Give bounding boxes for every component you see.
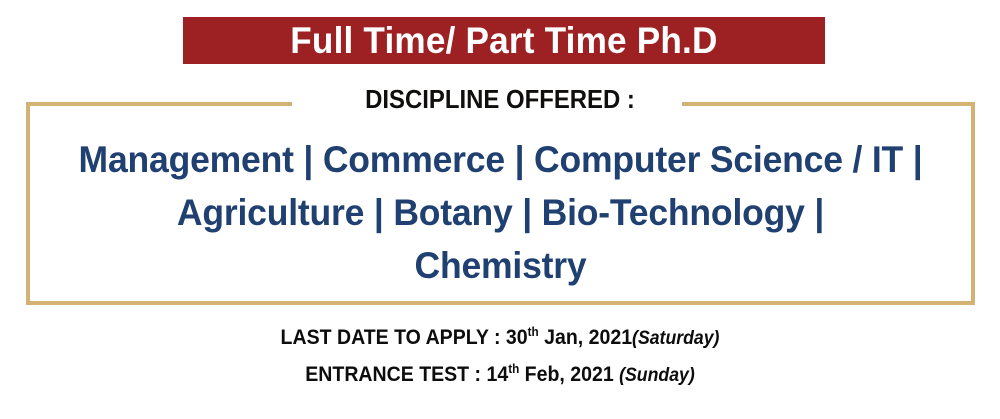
last-date-to-apply-line: LAST DATE TO APPLY : 30th Jan, 2021(Satu… — [35, 320, 965, 357]
program-title-text: Full Time/ Part Time Ph.D — [290, 22, 717, 59]
entrance-test-day: 14 — [486, 363, 508, 386]
entrance-test-weekday: (Sunday) — [619, 365, 695, 386]
discipline-line-1: Management | Commerce | Computer Science… — [45, 133, 956, 186]
last-date-month-year: Jan, 2021 — [539, 326, 632, 349]
last-date-weekday: (Saturday) — [632, 328, 719, 349]
last-date-ordinal: th — [528, 325, 539, 339]
program-title-banner: Full Time/ Part Time Ph.D — [183, 17, 825, 64]
entrance-test-ordinal: th — [508, 362, 519, 376]
discipline-offered-label: DISCIPLINE OFFERED : — [40, 84, 960, 114]
discipline-list: Management | Commerce | Computer Science… — [26, 133, 975, 292]
entrance-test-line: ENTRANCE TEST : 14th Feb, 2021 (Sunday) — [35, 357, 965, 394]
entrance-test-month-year: Feb, 2021 — [519, 363, 613, 386]
last-date-label: LAST DATE TO APPLY : — [281, 326, 506, 349]
last-date-day: 30 — [506, 326, 528, 349]
important-dates: LAST DATE TO APPLY : 30th Jan, 2021(Satu… — [0, 320, 1000, 394]
discipline-line-3: Chemistry — [45, 239, 956, 292]
entrance-test-label: ENTRANCE TEST : — [305, 363, 486, 386]
ph-d-admission-poster: Full Time/ Part Time Ph.D DISCIPLINE OFF… — [0, 0, 1000, 419]
discipline-line-2: Agriculture | Botany | Bio-Technology | — [45, 186, 956, 239]
